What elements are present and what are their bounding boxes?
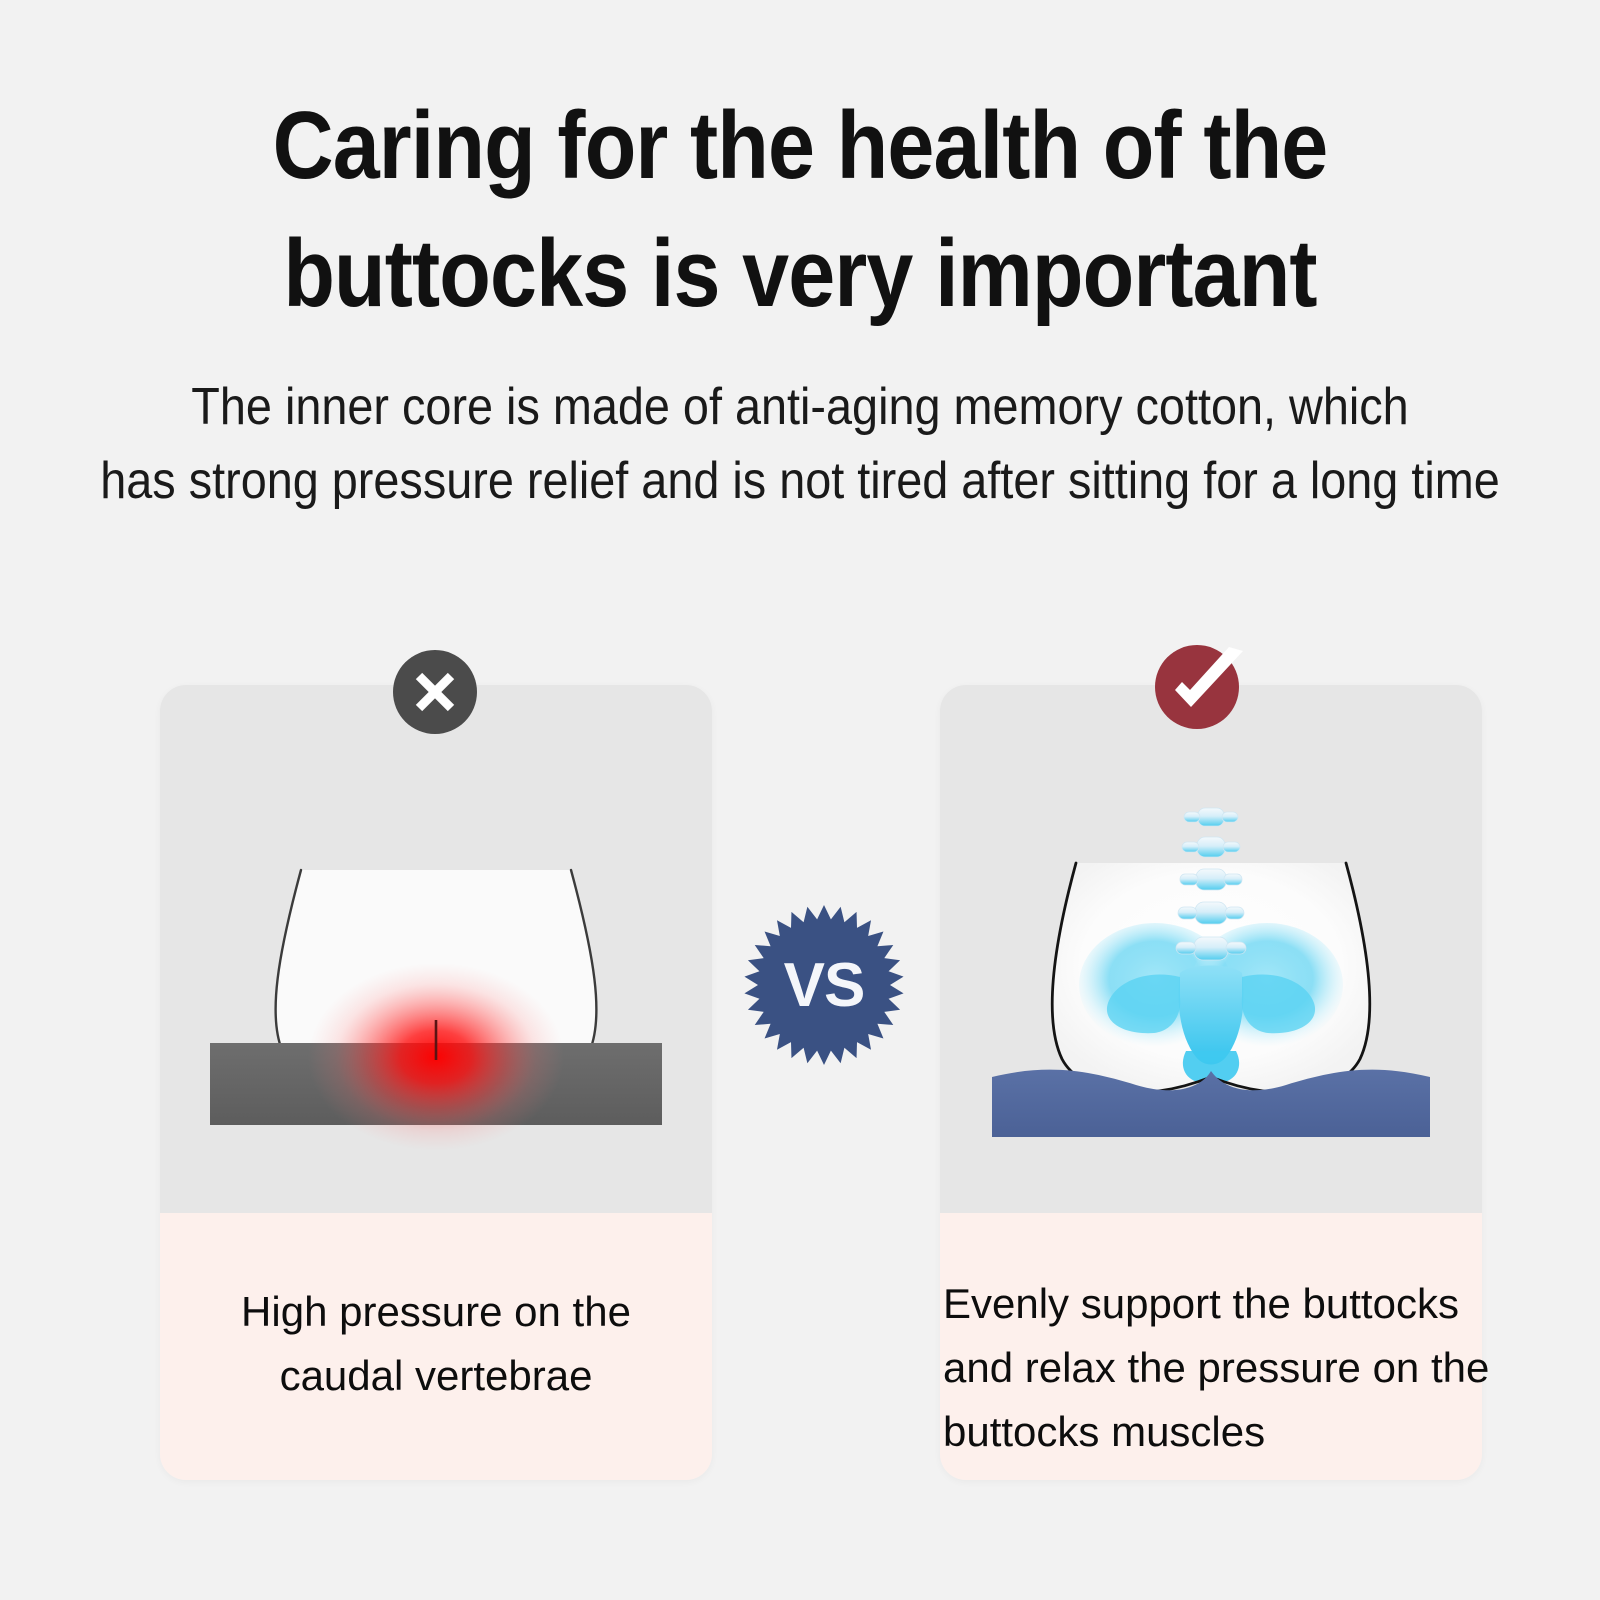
page-subtitle-line-2: has strong pressure relief and is not ti… [80, 444, 1520, 518]
vs-label: VS [784, 951, 865, 1020]
page-title-line-2: buttocks is very important [96, 210, 1504, 338]
vs-badge: VS [742, 903, 906, 1067]
caption-left-line-1: High pressure on the [160, 1280, 712, 1344]
cross-icon [393, 650, 477, 734]
caption-right-line-2: and relax the pressure on the [943, 1336, 1482, 1400]
caption-left-line-2: caudal vertebrae [160, 1344, 712, 1408]
caption-right-line-1: Evenly support the buttocks [943, 1272, 1482, 1336]
page-title: Caring for the health of the buttocks is… [96, 0, 1504, 338]
illustration-buttocks-hard-surface [160, 685, 712, 1213]
header: Caring for the health of the buttocks is… [0, 0, 1600, 518]
illustration-buttocks-memory-cushion [940, 685, 1482, 1213]
check-icon [1155, 645, 1239, 729]
caption-right-line-3: buttocks muscles [943, 1400, 1482, 1464]
page-title-line-1: Caring for the health of the [96, 82, 1504, 210]
caption-use: Evenly support the buttocks and relax th… [940, 1272, 1482, 1464]
page-subtitle: The inner core is made of anti-aging mem… [80, 338, 1520, 518]
page-subtitle-line-1: The inner core is made of anti-aging mem… [80, 370, 1520, 444]
caption-do-not-use: High pressure on the caudal vertebrae [160, 1280, 712, 1408]
